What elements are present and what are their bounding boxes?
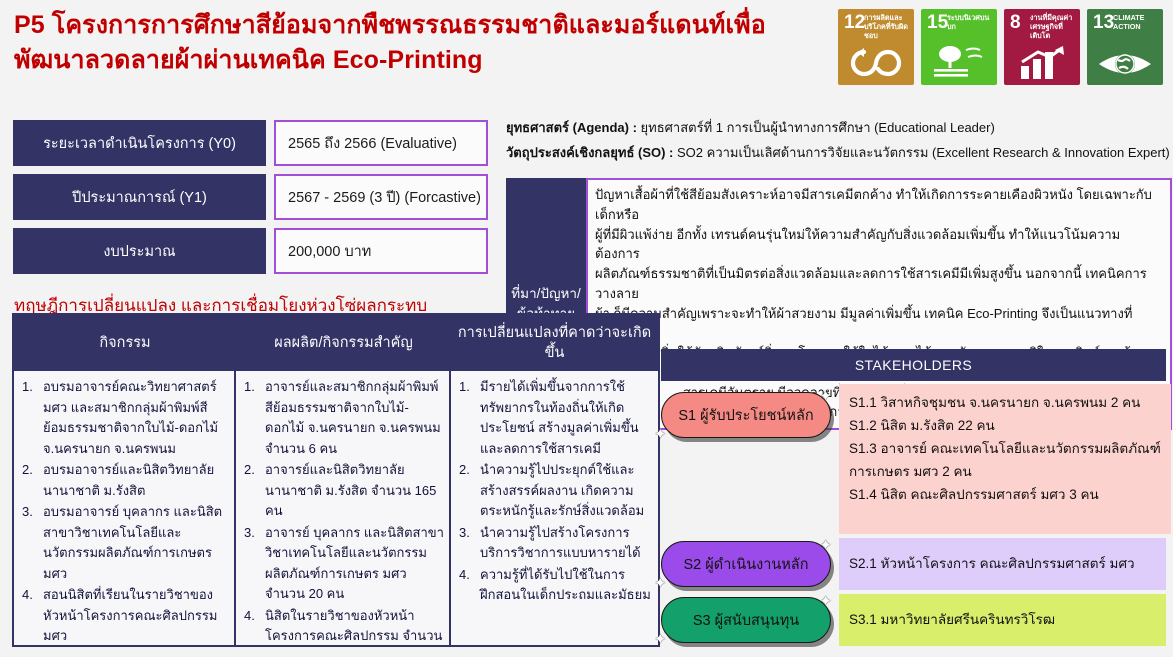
sdg-icon-15: 15 ระบบนิเวศบนบก bbox=[921, 9, 997, 85]
activities-list: อบรมอาจารย์คณะวิทยาศาสตร์ มศว และสมาชิกก… bbox=[16, 377, 230, 645]
stakeholder-pill-s2[interactable]: S2 ผู้ดำเนินงานหลัก ✦ ✦ bbox=[661, 541, 831, 587]
outputs-list: อาจารย์และสมาชิกกลุ่มผ้าพิมพ์สีย้อมธรรมช… bbox=[238, 377, 445, 645]
growth-chart-icon bbox=[1018, 46, 1066, 80]
sdg-label: CLIMATE ACTION bbox=[1113, 14, 1160, 32]
so-line: วัตถุประสงค์เชิงกลยุทธ์ (SO) : SO2 ความเ… bbox=[506, 143, 1171, 163]
stakeholder-items-s1: S1.1 วิสาหกิจชุมชน จ.นครนายก จ.นครพนม 2 … bbox=[839, 384, 1171, 534]
pill-label: S3 ผู้สนับสนุนทุน bbox=[693, 609, 799, 632]
list-item: นำความรู้ไปประยุกต์ใช้และสร้างสรรค์ผลงาน… bbox=[453, 460, 654, 522]
list-item: อาจารย์และสมาชิกกลุ่มผ้าพิมพ์สีย้อมธรรมช… bbox=[238, 377, 445, 459]
info-row: ปีประมาณการณ์ (Y1) 2567 - 2569 (3 ปี) (F… bbox=[13, 174, 488, 220]
pill-wrap-s2: S2 ผู้ดำเนินงานหลัก ✦ ✦ bbox=[661, 538, 839, 587]
stakeholder-group-s3: S3 ผู้สนับสนุนทุน ✦ ✦ S3.1 มหาวิทยาลัยศร… bbox=[661, 594, 1166, 646]
list-item: อาจารย์ บุคลากร และนิสิตสาขาวิชาเทคโนโลย… bbox=[238, 523, 445, 605]
sdg-number: 15 bbox=[927, 13, 948, 32]
problem-line: ผู้ที่มีผิวแพ้ง่าย อีกทั้ง เทรนด์คนรุ่นใ… bbox=[595, 225, 1163, 265]
stakeholder-item: S3.1 มหาวิทยาลัยศรีนครินทรวิโรฒ bbox=[849, 609, 1055, 632]
agenda-value: ยุทธศาสตร์ที่ 1 การเป็นผู้นำทางการศึกษา … bbox=[641, 120, 995, 135]
cell-outcomes: มีรายได้เพิ่มขึ้นจากการใช้ทรัพยากรในท้อง… bbox=[451, 371, 658, 645]
outcomes-list: มีรายได้เพิ่มขึ้นจากการใช้ทรัพยากรในท้อง… bbox=[453, 377, 654, 606]
list-item: สอนนิสิตที่เรียนในรายวิชาของหัวหน้าโครงก… bbox=[16, 585, 230, 645]
list-item: อบรมอาจารย์และนิสิตวิทยาลัยนานาชาติ ม.รั… bbox=[16, 460, 230, 501]
info-row: งบประมาณ 200,000 บาท bbox=[13, 228, 488, 274]
list-item: มีรายได้เพิ่มขึ้นจากการใช้ทรัพยากรในท้อง… bbox=[453, 377, 654, 459]
stakeholder-item: S2.1 หัวหน้าโครงการ คณะศิลปกรรมศาสตร์ มศ… bbox=[849, 553, 1135, 576]
pill-label: S1 ผู้รับประโยชน์หลัก bbox=[678, 404, 813, 427]
so-value: SO2 ความเป็นเลิศด้านการวิจัยและนวัตกรรม … bbox=[677, 145, 1170, 160]
stakeholders-panel: STAKEHOLDERS S1 ผู้รับประโยชน์หลัก ✦ ✦ S… bbox=[661, 349, 1166, 646]
stakeholder-items-s3: S3.1 มหาวิทยาลัยศรีนครินทรวิโรฒ bbox=[839, 594, 1166, 646]
list-item: นิสิตในรายวิชาของหัวหน้าโครงการคณะศิลปกร… bbox=[238, 606, 445, 645]
stakeholder-item: S1.3 อาจารย์ คณะเทคโนโลยีและนวัตกรรมผลิต… bbox=[849, 438, 1161, 461]
star-icon: ✦ bbox=[819, 592, 832, 610]
stakeholder-item: S1.4 นิสิต คณะศิลปกรรมศาสตร์ มศว 3 คน bbox=[849, 484, 1161, 507]
sdg-icon-12: 12 การผลิตและบริโภคที่รับผิดชอบ bbox=[838, 9, 914, 85]
sdg-label: งานที่มีคุณค่าเศรษฐกิจที่เติบโต bbox=[1030, 14, 1077, 40]
info-value-budget-year: 2567 - 2569 (3 ปี) (Forcastive) bbox=[274, 174, 488, 220]
column-header-activities: กิจกรรม bbox=[14, 315, 236, 371]
page-title: P5 โครงการการศึกษาสีย้อมจากพืชพรรณธรรมชา… bbox=[14, 8, 834, 77]
list-item: ความรู้ที่ได้รับไปใช้ในการฝึกสอนในเด็กปร… bbox=[453, 565, 654, 606]
cell-outputs: อาจารย์และสมาชิกกลุ่มผ้าพิมพ์สีย้อมธรรมช… bbox=[236, 371, 451, 645]
stakeholder-item: การเกษตร มศว 2 คน bbox=[849, 461, 1161, 484]
sdg-icon-8: 8 งานที่มีคุณค่าเศรษฐกิจที่เติบโต bbox=[1004, 9, 1080, 85]
sdg-label: ระบบนิเวศบนบก bbox=[947, 14, 994, 32]
info-value-duration: 2565 ถึง 2566 (Evaluative) bbox=[274, 120, 488, 166]
problem-line: ปัญหาเสื้อผ้าที่ใช้สีย้อมสังเคราะห์อาจมี… bbox=[595, 185, 1163, 225]
slide-canvas: P5 โครงการการศึกษาสีย้อมจากพืชพรรณธรรมชา… bbox=[0, 0, 1173, 657]
agenda-block: ยุทธศาสตร์ (Agenda) : ยุทธศาสตร์ที่ 1 กา… bbox=[506, 118, 1171, 168]
list-item: อาจารย์และนิสิตวิทยาลัยนานาชาติ ม.รังสิต… bbox=[238, 460, 445, 522]
project-info-table: ระยะเวลาดำเนินโครงการ (Y0) 2565 ถึง 2566… bbox=[13, 120, 488, 282]
info-row: ระยะเวลาดำเนินโครงการ (Y0) 2565 ถึง 2566… bbox=[13, 120, 488, 166]
info-label-budget-year: ปีประมาณการณ์ (Y1) bbox=[13, 174, 266, 220]
cell-activities: อบรมอาจารย์คณะวิทยาศาสตร์ มศว และสมาชิกก… bbox=[14, 371, 236, 645]
agenda-label: ยุทธศาสตร์ (Agenda) : bbox=[506, 120, 641, 135]
star-icon: ✦ bbox=[654, 574, 667, 592]
stakeholder-group-s2: S2 ผู้ดำเนินงานหลัก ✦ ✦ S2.1 หัวหน้าโครง… bbox=[661, 538, 1166, 590]
sdg-icon-13: 13 CLIMATE ACTION bbox=[1087, 9, 1163, 85]
sdg-number: 12 bbox=[844, 13, 865, 32]
stakeholder-item: S1.2 นิสิต ม.รังสิต 22 คน bbox=[849, 415, 1161, 438]
info-label-budget: งบประมาณ bbox=[13, 228, 266, 274]
stakeholders-title: STAKEHOLDERS bbox=[661, 349, 1166, 381]
sdg-number: 8 bbox=[1010, 13, 1021, 32]
column-header-outputs: ผลผลิต/กิจกรรมสำคัญ bbox=[236, 315, 451, 371]
stakeholder-items-s2: S2.1 หัวหน้าโครงการ คณะศิลปกรรมศาสตร์ มศ… bbox=[839, 538, 1166, 590]
stakeholder-item: S1.1 วิสาหกิจชุมชน จ.นครนายก จ.นครพนม 2 … bbox=[849, 392, 1161, 415]
info-value-budget: 200,000 บาท bbox=[274, 228, 488, 274]
list-item: นำความรู้ไปสร้างโครงการบริการวิชาการแบบห… bbox=[453, 523, 654, 564]
info-label-duration: ระยะเวลาดำเนินโครงการ (Y0) bbox=[13, 120, 266, 166]
list-item: อบรมอาจารย์ บุคลากร และนิสิตสาขาวิชาเทคโ… bbox=[16, 502, 230, 584]
table-body-row: อบรมอาจารย์คณะวิทยาศาสตร์ มศว และสมาชิกก… bbox=[14, 371, 658, 645]
star-icon: ✦ bbox=[654, 425, 667, 443]
tree-icon bbox=[930, 44, 988, 80]
stakeholder-pill-s3[interactable]: S3 ผู้สนับสนุนทุน ✦ ✦ bbox=[661, 597, 831, 643]
infinity-icon bbox=[850, 46, 902, 80]
problem-line: ผ้า ก็มีความสำคัญเพราะจะทำให้ผ้าสวยงาม ม… bbox=[595, 304, 1163, 344]
star-icon: ✦ bbox=[819, 536, 832, 554]
stakeholder-group-s1: S1 ผู้รับประโยชน์หลัก ✦ ✦ S1.1 วิสาหกิจช… bbox=[661, 384, 1166, 534]
star-icon: ✦ bbox=[654, 630, 667, 648]
stakeholder-pill-s1[interactable]: S1 ผู้รับประโยชน์หลัก ✦ ✦ bbox=[661, 392, 831, 438]
agenda-line: ยุทธศาสตร์ (Agenda) : ยุทธศาสตร์ที่ 1 กา… bbox=[506, 118, 1171, 138]
eye-earth-icon bbox=[1097, 48, 1153, 80]
pill-wrap-s3: S3 ผู้สนับสนุนทุน ✦ ✦ bbox=[661, 594, 839, 643]
sdg-label: การผลิตและบริโภคที่รับผิดชอบ bbox=[864, 14, 911, 40]
column-header-outcomes: การเปลี่ยนแปลงที่คาดว่าจะเกิดขึ้น bbox=[451, 315, 658, 371]
theory-of-change-table: กิจกรรม ผลผลิต/กิจกรรมสำคัญ การเปลี่ยนแป… bbox=[12, 313, 660, 647]
pill-wrap-s1: S1 ผู้รับประโยชน์หลัก ✦ ✦ bbox=[661, 384, 839, 438]
list-item: อบรมอาจารย์คณะวิทยาศาสตร์ มศว และสมาชิกก… bbox=[16, 377, 230, 459]
so-label: วัตถุประสงค์เชิงกลยุทธ์ (SO) : bbox=[506, 145, 677, 160]
table-header-row: กิจกรรม ผลผลิต/กิจกรรมสำคัญ การเปลี่ยนแป… bbox=[14, 315, 658, 371]
sdg-icon-row: 12 การผลิตและบริโภคที่รับผิดชอบ 15 ระบบน… bbox=[838, 9, 1163, 85]
sdg-number: 13 bbox=[1093, 13, 1114, 32]
pill-label: S2 ผู้ดำเนินงานหลัก bbox=[684, 553, 809, 576]
problem-line: ผลิตภัณฑ์ธรรมชาติที่เป็นมิตรต่อสิ่งแวดล้… bbox=[595, 264, 1163, 304]
star-icon: ✦ bbox=[819, 387, 832, 405]
